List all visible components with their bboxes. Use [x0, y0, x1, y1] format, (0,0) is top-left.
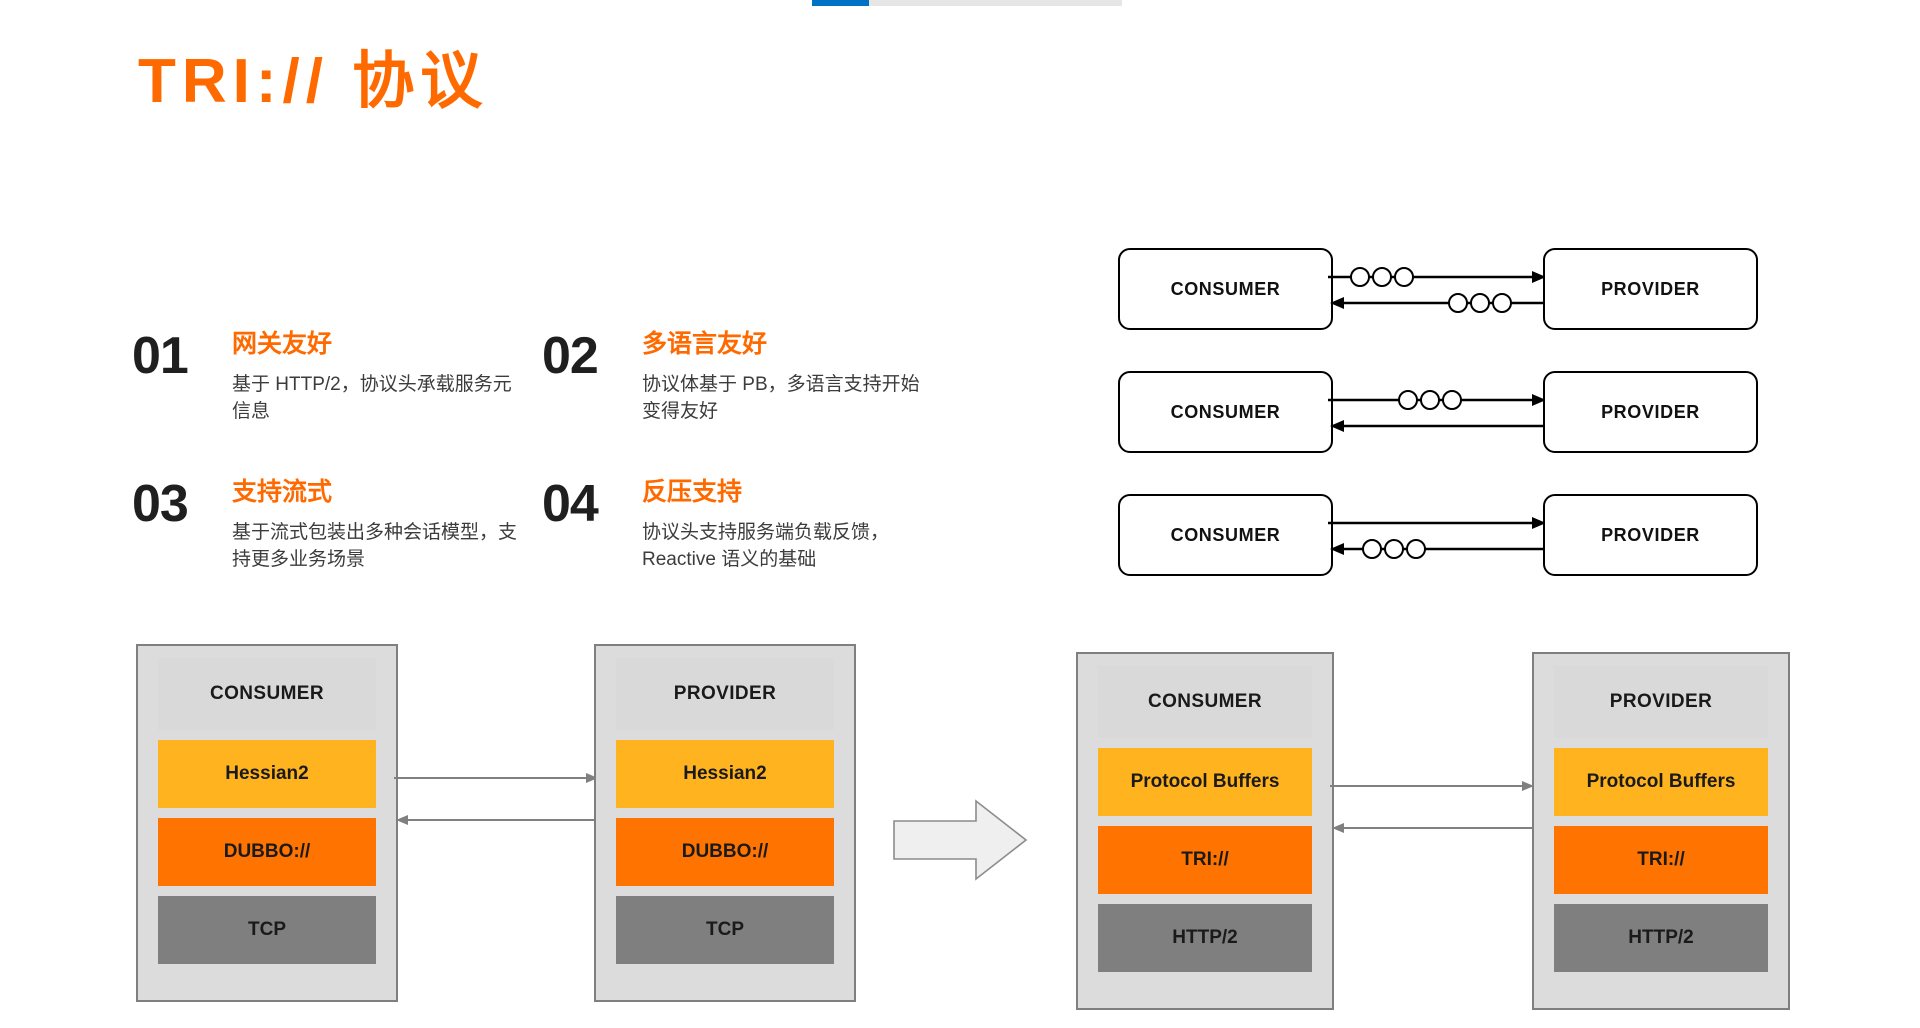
streaming-row-bidirectional: CONSUMER PROVIDER — [1118, 248, 1758, 330]
feature-number: 03 — [132, 478, 188, 530]
feature-number: 02 — [542, 330, 598, 382]
feature-body: 反压支持 协议头支持服务端负载反馈，Reactive 语义的基础 — [642, 478, 942, 574]
consumer-node-label: CONSUMER — [1171, 402, 1281, 423]
feature-description: 基于 HTTP/2，协议头承载服务元信息 — [232, 371, 522, 426]
stack-header: PROVIDER — [616, 658, 834, 730]
stack-layer-serialization: Hessian2 — [616, 740, 834, 808]
provider-node: PROVIDER — [1543, 494, 1758, 576]
feature-title: 反压支持 — [642, 478, 942, 507]
stack-title: PROVIDER — [674, 683, 776, 705]
feature-description: 协议头支持服务端负载反馈，Reactive 语义的基础 — [642, 519, 932, 574]
stack-layer-protocol: DUBBO:// — [616, 818, 834, 886]
consumer-node: CONSUMER — [1118, 494, 1333, 576]
stack-layer-label: Hessian2 — [683, 763, 766, 785]
feature-body: 网关友好 基于 HTTP/2，协议头承载服务元信息 — [232, 330, 532, 426]
feature-item-01: 01 网关友好 基于 HTTP/2，协议头承载服务元信息 — [132, 330, 532, 426]
consumer-node: CONSUMER — [1118, 248, 1333, 330]
feature-body: 支持流式 基于流式包装出多种会话模型，支持更多业务场景 — [232, 478, 532, 574]
feature-title: 多语言友好 — [642, 330, 942, 359]
stack-layer-label: TCP — [248, 919, 286, 941]
stack-layer-serialization: Protocol Buffers — [1554, 748, 1768, 816]
transition-arrow-icon — [890, 795, 1030, 885]
feature-item-02: 02 多语言友好 协议体基于 PB，多语言支持开始变得友好 — [542, 330, 942, 426]
stack-layer-transport: TCP — [616, 896, 834, 964]
stack-layer-label: Protocol Buffers — [1587, 771, 1736, 793]
feature-number: 04 — [542, 478, 598, 530]
feature-body: 多语言友好 协议体基于 PB，多语言支持开始变得友好 — [642, 330, 942, 426]
stack-layer-label: DUBBO:// — [682, 841, 769, 863]
consumer-node: CONSUMER — [1118, 371, 1333, 453]
stack-title: CONSUMER — [1148, 691, 1262, 713]
stack-layer-serialization: Hessian2 — [158, 740, 376, 808]
old-consumer-stack: CONSUMER Hessian2 DUBBO:// TCP — [136, 644, 398, 1002]
streaming-row-server-stream: CONSUMER PROVIDER — [1118, 494, 1758, 576]
provider-node: PROVIDER — [1543, 371, 1758, 453]
consumer-node-label: CONSUMER — [1171, 279, 1281, 300]
stack-layer-label: TRI:// — [1637, 849, 1685, 871]
stack-header: PROVIDER — [1554, 666, 1768, 738]
consumer-node-label: CONSUMER — [1171, 525, 1281, 546]
new-provider-stack: PROVIDER Protocol Buffers TRI:// HTTP/2 — [1532, 652, 1790, 1010]
stack-layer-label: Protocol Buffers — [1131, 771, 1280, 793]
feature-item-03: 03 支持流式 基于流式包装出多种会话模型，支持更多业务场景 — [132, 478, 532, 574]
provider-node-label: PROVIDER — [1601, 279, 1700, 300]
slide-progress-track[interactable] — [812, 0, 1122, 6]
stack-layer-protocol: TRI:// — [1098, 826, 1312, 894]
old-stack-exchange-arrows — [394, 760, 600, 880]
stack-title: CONSUMER — [210, 683, 324, 705]
stack-layer-transport: HTTP/2 — [1554, 904, 1768, 972]
stack-layer-label: HTTP/2 — [1172, 927, 1237, 949]
new-stack-exchange-arrows — [1330, 768, 1536, 888]
stack-layer-protocol: TRI:// — [1554, 826, 1768, 894]
stack-layer-serialization: Protocol Buffers — [1098, 748, 1312, 816]
stack-layer-label: HTTP/2 — [1628, 927, 1693, 949]
stack-layer-label: Hessian2 — [225, 763, 308, 785]
stack-header: CONSUMER — [158, 658, 376, 730]
feature-description: 基于流式包装出多种会话模型，支持更多业务场景 — [232, 519, 522, 574]
stack-title: PROVIDER — [1610, 691, 1712, 713]
feature-title: 网关友好 — [232, 330, 532, 359]
feature-number: 01 — [132, 330, 188, 382]
stack-layer-label: TCP — [706, 919, 744, 941]
stack-layer-protocol: DUBBO:// — [158, 818, 376, 886]
feature-item-04: 04 反压支持 协议头支持服务端负载反馈，Reactive 语义的基础 — [542, 478, 942, 574]
provider-node: PROVIDER — [1543, 248, 1758, 330]
stack-layer-transport: TCP — [158, 896, 376, 964]
stream-arrows-client-stream — [1328, 371, 1548, 453]
stack-layer-transport: HTTP/2 — [1098, 904, 1312, 972]
feature-description: 协议体基于 PB，多语言支持开始变得友好 — [642, 371, 932, 426]
stream-arrows-bidirectional — [1328, 248, 1548, 330]
streaming-row-client-stream: CONSUMER PROVIDER — [1118, 371, 1758, 453]
stack-layer-label: DUBBO:// — [224, 841, 311, 863]
provider-node-label: PROVIDER — [1601, 525, 1700, 546]
new-consumer-stack: CONSUMER Protocol Buffers TRI:// HTTP/2 — [1076, 652, 1334, 1010]
slide-progress-fill — [812, 0, 869, 6]
feature-title: 支持流式 — [232, 478, 532, 507]
stack-layer-label: TRI:// — [1181, 849, 1229, 871]
old-provider-stack: PROVIDER Hessian2 DUBBO:// TCP — [594, 644, 856, 1002]
page-title: TRI:// 协议 — [138, 48, 488, 116]
provider-node-label: PROVIDER — [1601, 402, 1700, 423]
stack-header: CONSUMER — [1098, 666, 1312, 738]
stream-arrows-server-stream — [1328, 494, 1548, 576]
